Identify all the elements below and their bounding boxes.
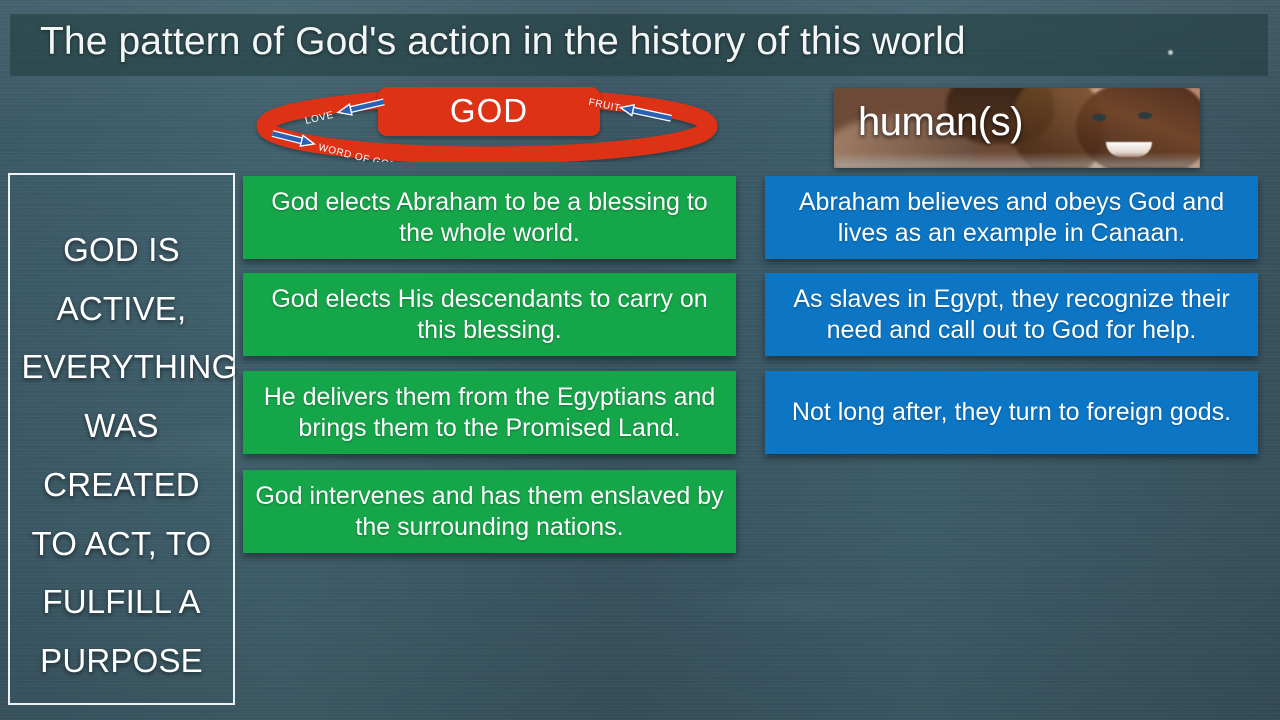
god-is-active-text: GOD ISACTIVE,EVERYTHINGWASCREATEDTO ACT,… — [22, 221, 222, 691]
humans-label: human(s) — [858, 100, 1023, 145]
dust-speck — [1168, 50, 1173, 55]
god-is-active-line: EVERYTHING — [22, 338, 222, 397]
god-is-active-panel: GOD ISACTIVE,EVERYTHINGWASCREATEDTO ACT,… — [8, 173, 235, 705]
god-is-active-line: ACTIVE, — [22, 280, 222, 339]
god-is-active-line: CREATED — [22, 456, 222, 515]
god-cycle-svg: GOD LOVE WORD OF GOD FRUIT — [252, 84, 722, 162]
photo-bottom-fade — [834, 152, 1200, 168]
human-response-item-3[interactable]: Not long after, they turn to foreign god… — [765, 371, 1258, 454]
god-is-active-line: TO ACT, TO — [22, 515, 222, 574]
human-response-item-1[interactable]: Abraham believes and obeys God and lives… — [765, 176, 1258, 259]
god-action-item-2[interactable]: God elects His descendants to carry on t… — [243, 273, 736, 356]
photo-eye-right — [1138, 112, 1152, 119]
god-cycle-diagram: GOD LOVE WORD OF GOD FRUIT — [252, 84, 722, 162]
god-is-active-line: FULFILL A — [22, 573, 222, 632]
god-is-active-line: GOD IS — [22, 221, 222, 280]
god-block-label: GOD — [450, 92, 528, 129]
god-action-item-1[interactable]: God elects Abraham to be a blessing to t… — [243, 176, 736, 259]
human-response-item-2[interactable]: As slaves in Egypt, they recognize their… — [765, 273, 1258, 356]
god-is-active-line: WAS — [22, 397, 222, 456]
god-action-item-3[interactable]: He delivers them from the Egyptians and … — [243, 371, 736, 454]
god-is-active-line: PURPOSE — [22, 632, 222, 691]
page-title: The pattern of God's action in the histo… — [40, 20, 1220, 64]
god-action-item-4[interactable]: God intervenes and has them enslaved by … — [243, 470, 736, 553]
humans-photo-banner: human(s) — [834, 88, 1200, 168]
photo-eye-left — [1092, 114, 1106, 121]
